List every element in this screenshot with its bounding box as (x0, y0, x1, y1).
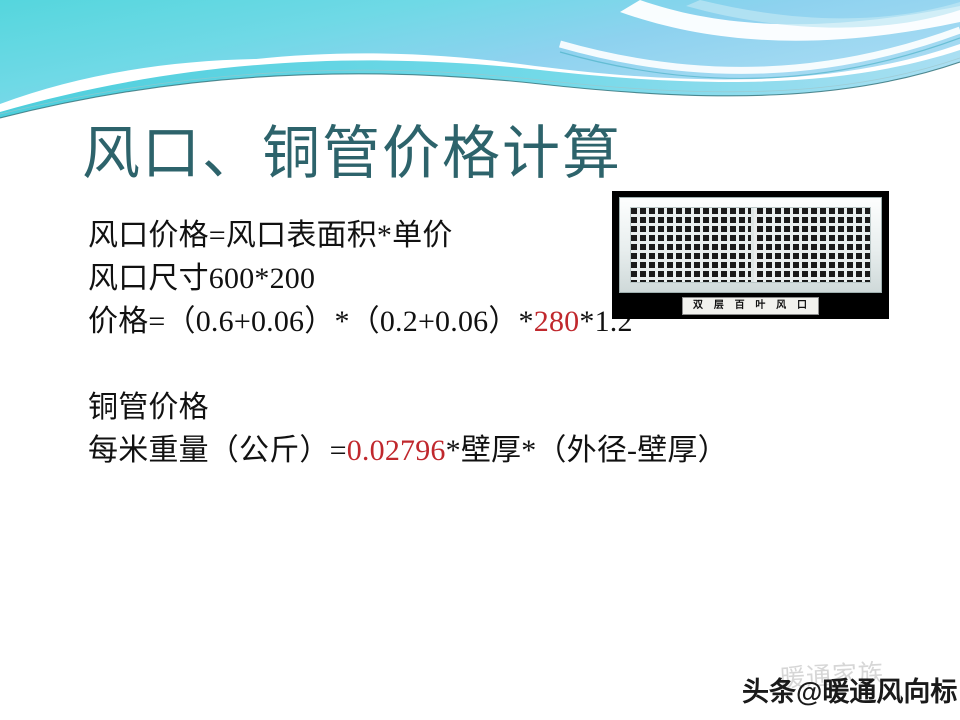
body-text-segment: 风口价格=风口表面积*单价 (88, 219, 453, 252)
body-line: 每米重量（公斤）=0.02796*壁厚*（外径-壁厚） (88, 429, 878, 472)
highlighted-value: 280 (534, 305, 580, 338)
grille-louver-mesh (630, 207, 871, 283)
body-text-segment: 每米重量（公斤）= (88, 434, 347, 467)
slide-canvas: 风口、铜管价格计算 风口价格=风口表面积*单价风口尺寸600*200价格=（0.… (0, 0, 960, 720)
grille-frame (619, 197, 882, 293)
decorative-header-band (0, 0, 960, 120)
at-icon: @ (796, 677, 822, 708)
body-text-segment: *壁厚*（外径-壁厚） (446, 434, 728, 467)
body-line-spacer (88, 343, 878, 386)
watermark-handle-label: 暖通风向标 (822, 677, 957, 707)
watermark-main-text: 头条@暖通风向标 (742, 670, 957, 709)
watermark: 暖通家族 头条@暖通风向标 (742, 662, 954, 708)
body-text-segment: 风口尺寸600*200 (88, 262, 315, 295)
grille-product-photo: 双 层 百 叶 风 口 (612, 191, 889, 319)
watermark-platform-label: 头条 (742, 677, 796, 707)
grille-caption-label: 双 层 百 叶 风 口 (682, 297, 819, 315)
header-wave-graphic (0, 0, 960, 120)
grille-caption: 双 层 百 叶 风 口 (612, 295, 889, 315)
page-title: 风口、铜管价格计算 (82, 118, 622, 190)
body-text-segment: 价格=（0.6+0.06）*（0.2+0.06）* (88, 305, 534, 338)
body-line: 铜管价格 (88, 386, 878, 429)
highlighted-value: 0.02796 (347, 434, 446, 467)
grille-center-divider (751, 208, 754, 282)
body-text-segment: 铜管价格 (88, 391, 209, 424)
